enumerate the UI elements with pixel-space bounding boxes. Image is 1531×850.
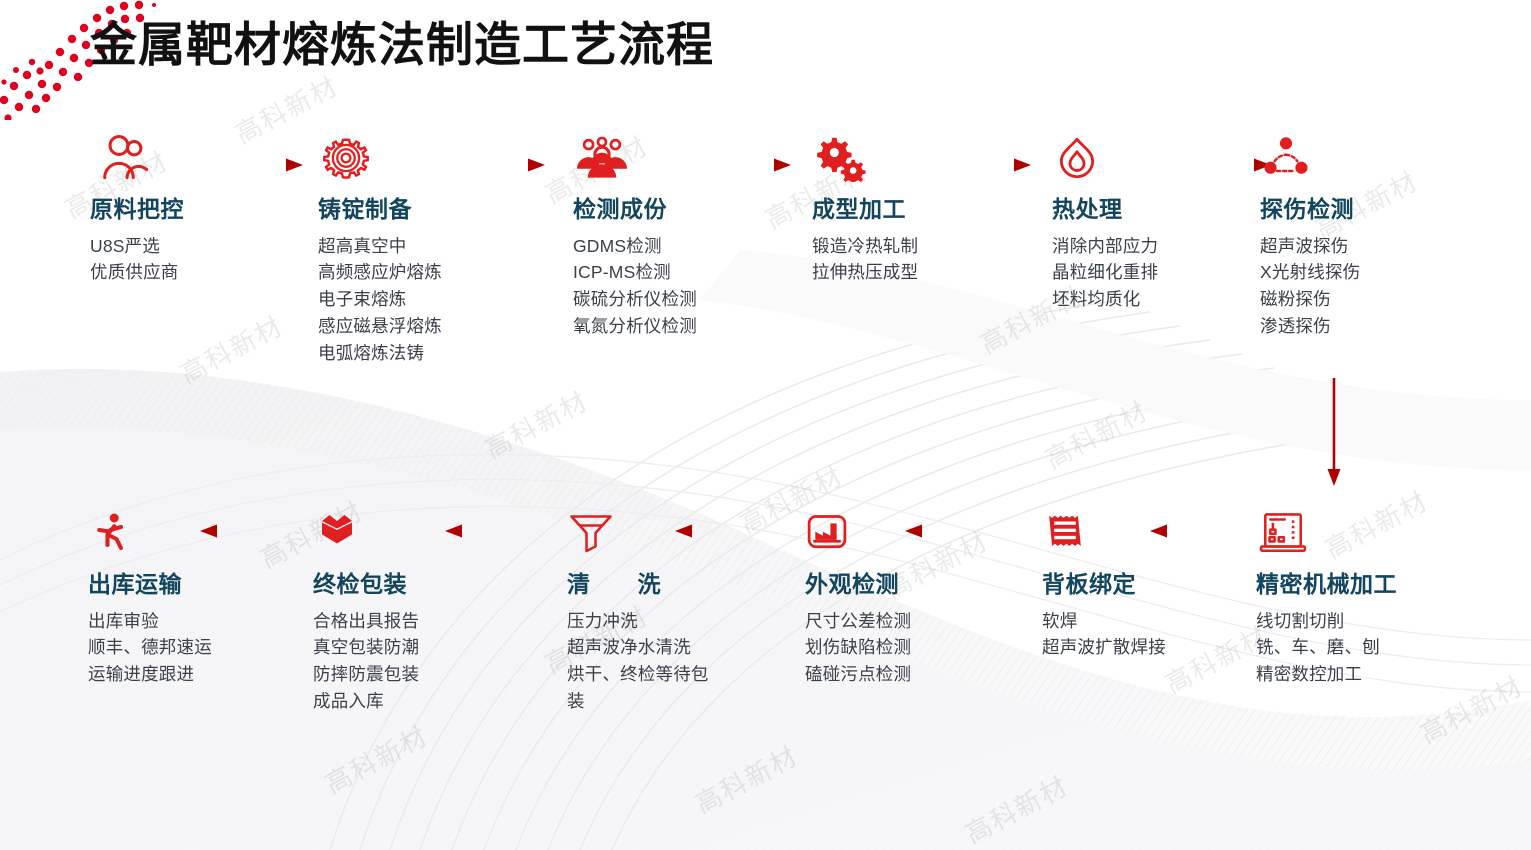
step-detail-list: 出库审验顺丰、德邦速运运输进度跟进	[88, 608, 318, 688]
page-title: 金属靶材熔炼法制造工艺流程	[90, 6, 714, 75]
step-title: 出库运输	[88, 571, 318, 599]
walking-person-icon	[88, 505, 318, 561]
process-step-composition-testing[interactable]: 检测成份GDMS检测ICP-MS检测碳硫分析仪检测氧氮分析仪检测	[573, 130, 803, 340]
gear-rings-icon	[318, 130, 548, 186]
step-detail-line: 感应磁悬浮熔炼	[318, 313, 548, 340]
step-detail-line: 高频感应炉熔炼	[318, 259, 548, 286]
step-detail-line: 顺丰、德邦速运	[88, 634, 318, 661]
step-detail-list: 锻造冷热轧制拉伸热压成型	[812, 233, 1042, 287]
step-detail-line: 防摔防震包装	[313, 661, 543, 688]
step-detail-line: 超声波扩散焊接	[1042, 634, 1272, 661]
step-detail-line: 坯料均质化	[1052, 286, 1282, 313]
step-detail-line: 电子束熔炼	[318, 286, 548, 313]
watermark-text: 高科新材	[688, 736, 804, 821]
step-detail-line: 超声波探伤	[1260, 233, 1490, 260]
step-detail-line: 尺寸公差检测	[805, 608, 1035, 635]
funnel-icon	[567, 505, 797, 561]
step-detail-line: 碳硫分析仪检测	[573, 286, 803, 313]
step-detail-line: 划伤缺陷检测	[805, 634, 1035, 661]
step-detail-line: 超高真空中	[318, 233, 548, 260]
step-detail-list: 压力冲洗超声波净水清洗烘干、终检等待包装	[567, 608, 797, 715]
flow-arrow-down	[1325, 378, 1343, 488]
three-nodes-icon	[1260, 130, 1490, 186]
watermark-text: 高科新材	[478, 381, 594, 466]
step-detail-list: 消除内部应力晶粒细化重排坯料均质化	[1052, 233, 1282, 313]
background-decoration	[0, 0, 1531, 850]
process-step-appearance-inspection[interactable]: 外观检测尺寸公差检测划伤缺陷检测磕碰污点检测	[805, 505, 1035, 688]
process-step-ingot-preparation[interactable]: 铸锭制备超高真空中高频感应炉熔炼电子束熔炼感应磁悬浮熔炼电弧熔炼法铸	[318, 130, 548, 366]
step-detail-line: 磕碰污点检测	[805, 661, 1035, 688]
watermark-text: 高科新材	[1038, 391, 1154, 476]
watermark-text: 高科新材	[958, 766, 1074, 850]
step-detail-line: 精密数控加工	[1256, 661, 1486, 688]
step-detail-line: 铣、车、磨、刨	[1256, 634, 1486, 661]
step-detail-line: 成品入库	[313, 688, 543, 715]
step-title: 成型加工	[812, 196, 1042, 224]
cnc-machine-icon	[1256, 505, 1486, 561]
step-detail-line: 拉伸热压成型	[812, 259, 1042, 286]
step-detail-line: 晶粒细化重排	[1052, 259, 1282, 286]
watermark-text: 高科新材	[173, 306, 289, 391]
step-detail-line: X光射线探伤	[1260, 259, 1490, 286]
process-step-flaw-detection[interactable]: 探伤检测超声波探伤X光射线探伤磁粉探伤渗透探伤	[1260, 130, 1490, 340]
process-step-heat-treatment[interactable]: 热处理消除内部应力晶粒细化重排坯料均质化	[1052, 130, 1282, 313]
step-detail-line: 超声波净水清洗	[567, 634, 797, 661]
step-title: 铸锭制备	[318, 196, 548, 224]
step-title: 终检包装	[313, 571, 543, 599]
step-detail-line: 出库审验	[88, 608, 318, 635]
open-box-icon	[313, 505, 543, 561]
step-title: 探伤检测	[1260, 196, 1490, 224]
step-detail-list: 线切割切削铣、车、磨、刨精密数控加工	[1256, 608, 1486, 688]
step-detail-line: ICP-MS检测	[573, 259, 803, 286]
two-people-icon	[90, 130, 320, 186]
step-title: 检测成份	[573, 196, 803, 224]
step-detail-line: GDMS检测	[573, 233, 803, 260]
step-detail-line: 烘干、终检等待包	[567, 661, 797, 688]
factory-square-icon	[805, 505, 1035, 561]
process-step-precision-machining[interactable]: 精密机械加工线切割切削铣、车、磨、刨精密数控加工	[1256, 505, 1486, 688]
step-detail-line: 软焊	[1042, 608, 1272, 635]
step-detail-line: U8S严选	[90, 233, 320, 260]
step-detail-list: 超声波探伤X光射线探伤磁粉探伤渗透探伤	[1260, 233, 1490, 340]
receipt-lines-icon	[1042, 505, 1272, 561]
step-detail-line: 优质供应商	[90, 259, 320, 286]
flame-icon	[1052, 130, 1282, 186]
step-detail-line: 消除内部应力	[1052, 233, 1282, 260]
people-group-icon	[573, 130, 803, 186]
step-detail-line: 合格出具报告	[313, 608, 543, 635]
step-title: 清 洗	[567, 571, 797, 599]
step-detail-list: 软焊超声波扩散焊接	[1042, 608, 1272, 662]
watermark-text: 高科新材	[318, 716, 434, 801]
step-detail-list: GDMS检测ICP-MS检测碳硫分析仪检测氧氮分析仪检测	[573, 233, 803, 340]
step-detail-line: 压力冲洗	[567, 608, 797, 635]
step-detail-line: 真空包装防潮	[313, 634, 543, 661]
step-detail-list: U8S严选优质供应商	[90, 233, 320, 287]
step-detail-line: 装	[567, 688, 797, 715]
process-step-raw-material-control[interactable]: 原料把控U8S严选优质供应商	[90, 130, 320, 286]
step-detail-line: 磁粉探伤	[1260, 286, 1490, 313]
step-detail-list: 超高真空中高频感应炉熔炼电子束熔炼感应磁悬浮熔炼电弧熔炼法铸	[318, 233, 548, 367]
step-title: 精密机械加工	[1256, 571, 1486, 599]
step-detail-line: 电弧熔炼法铸	[318, 340, 548, 367]
step-detail-line: 运输进度跟进	[88, 661, 318, 688]
step-title: 原料把控	[90, 196, 320, 224]
step-detail-line: 锻造冷热轧制	[812, 233, 1042, 260]
two-gears-icon	[812, 130, 1042, 186]
step-detail-line: 渗透探伤	[1260, 313, 1490, 340]
process-step-final-inspection-packaging[interactable]: 终检包装合格出具报告真空包装防潮防摔防震包装成品入库	[313, 505, 543, 715]
step-detail-list: 合格出具报告真空包装防潮防摔防震包装成品入库	[313, 608, 543, 715]
process-step-forming-processing[interactable]: 成型加工锻造冷热轧制拉伸热压成型	[812, 130, 1042, 286]
process-step-cleaning[interactable]: 清 洗压力冲洗超声波净水清洗烘干、终检等待包装	[567, 505, 797, 715]
step-detail-list: 尺寸公差检测划伤缺陷检测磕碰污点检测	[805, 608, 1035, 688]
step-detail-line: 氧氮分析仪检测	[573, 313, 803, 340]
process-step-backplate-bonding[interactable]: 背板绑定软焊超声波扩散焊接	[1042, 505, 1272, 661]
process-step-outbound-shipping[interactable]: 出库运输出库审验顺丰、德邦速运运输进度跟进	[88, 505, 318, 688]
step-detail-line: 线切割切削	[1256, 608, 1486, 635]
step-title: 热处理	[1052, 196, 1282, 224]
step-title: 背板绑定	[1042, 571, 1272, 599]
step-title: 外观检测	[805, 571, 1035, 599]
